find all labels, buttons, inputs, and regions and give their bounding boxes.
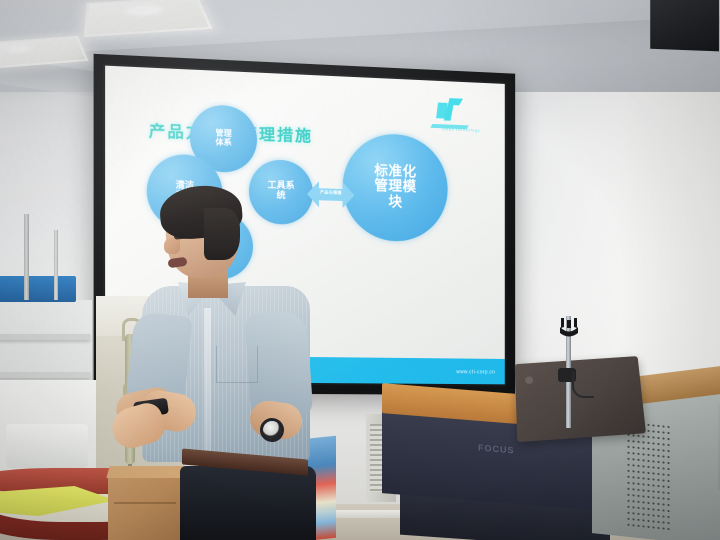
bubble-standardized-management-module: 标准化管理模块 [343,132,448,242]
bubble-main-label: 标准化管理模块 [374,165,416,211]
hair-side [204,208,240,260]
footer-website: www.cti-corp.cn [456,369,495,375]
microphone-clip-icon [556,316,582,342]
metal-rod [24,214,29,300]
microphone-cable [572,372,594,398]
blue-storage-box [0,276,76,302]
lectern-monitor[interactable] [515,356,646,442]
monitor-logo-icon [525,376,533,384]
white-tray [6,424,88,468]
trousers [180,466,316,540]
presenter [120,186,320,540]
cart-shelf [0,334,90,340]
ceiling-mounted-speaker [650,0,719,51]
speaker-grille [626,420,672,533]
shirt-pocket [216,346,258,383]
cart-shelf [0,372,90,378]
metal-rod-second [54,230,58,300]
presentation-photo-scene: 产品方案与管理措施 clean technology 管理体系 清洁系统 [0,0,720,540]
bubble-top-label: 管理体系 [215,130,231,148]
nose [164,238,180,254]
shirt-placket [204,308,211,460]
